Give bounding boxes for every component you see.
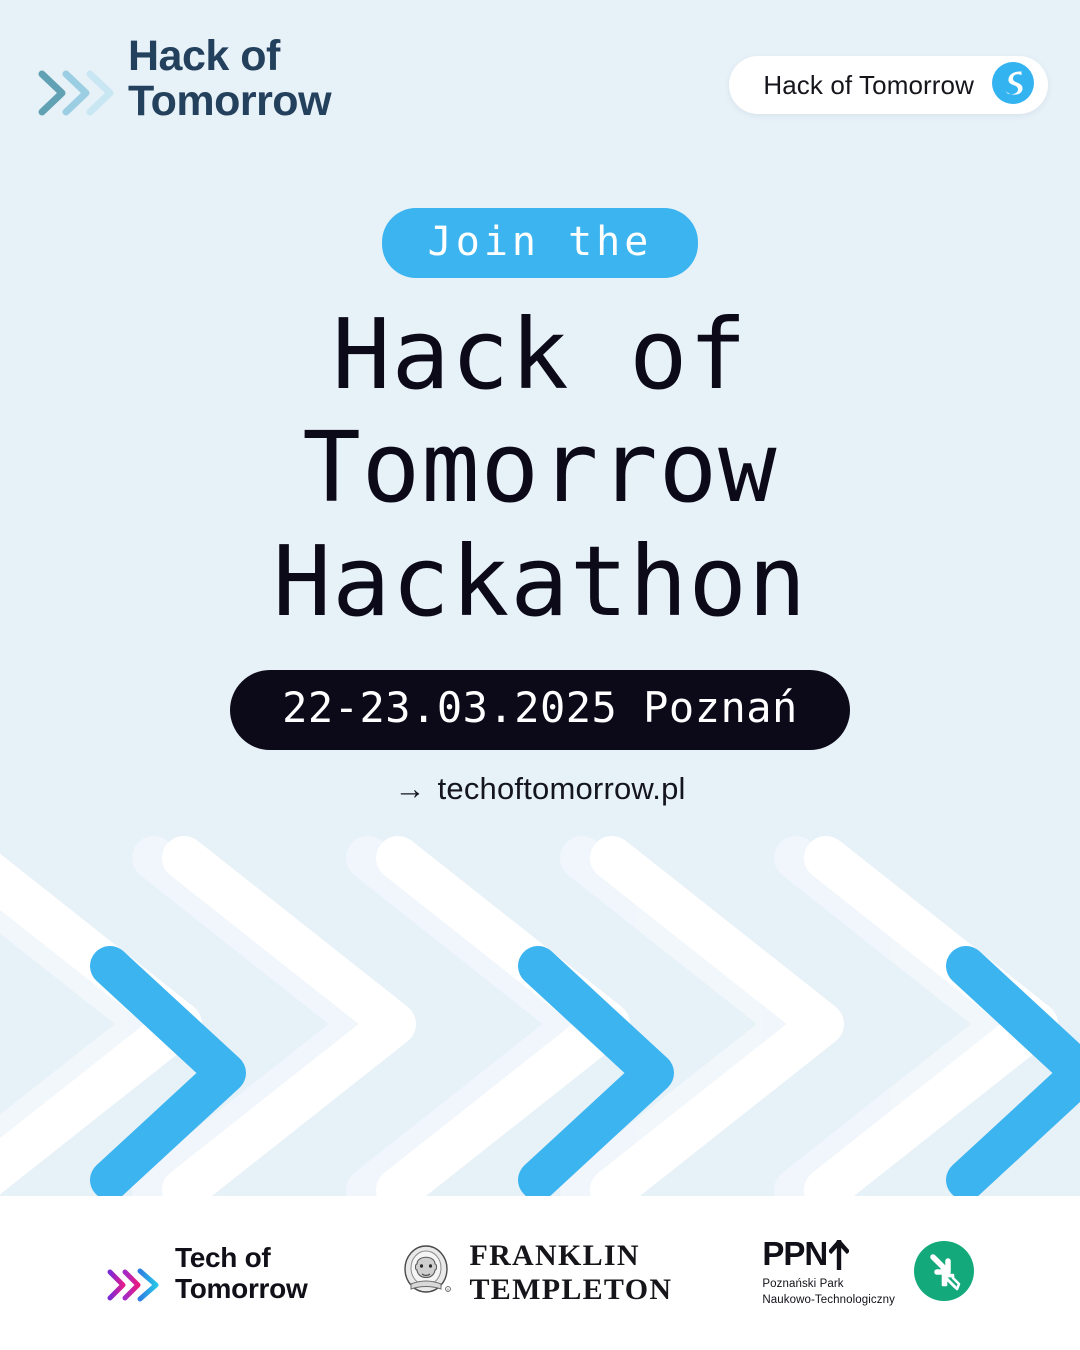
partner-logo-ppnt[interactable]: PPN Poznański Park Naukowo-Technologiczn… — [762, 1237, 975, 1308]
svg-text:R: R — [447, 1287, 449, 1291]
partner-logo-franklin-templeton[interactable]: R FRANKLIN TEMPLETON — [397, 1239, 672, 1307]
arrow-right-icon: → — [394, 771, 425, 806]
ppnt-wordmark: PPN — [762, 1237, 895, 1270]
ppnt-word-letters: PPN — [762, 1237, 827, 1270]
website-line[interactable]: →techoftomorrow.pl — [0, 771, 1080, 807]
franklin-portrait-icon: R — [397, 1242, 455, 1305]
gradient-triple-chevron-icon — [105, 1267, 163, 1308]
join-the-pill: Join the — [382, 208, 699, 278]
ppnt-green-arrows-icon — [913, 1240, 975, 1307]
arrow-up-icon — [829, 1240, 849, 1270]
poster-canvas: Hack of Tomorrow Hack of Tomorrow Join t… — [0, 0, 1080, 1350]
partner-logo-tech-of-tomorrow[interactable]: Tech of Tomorrow — [105, 1239, 307, 1308]
ppnt-subtitle: Poznański Park Naukowo-Technologiczny — [762, 1277, 895, 1308]
chevron-pattern-band — [0, 828, 1080, 1196]
sponsor-footer: Tech of Tomorrow R FRANKLIN TEMPLETON — [0, 1196, 1080, 1350]
date-location-badge: 22-23.03.2025 Poznań — [230, 670, 850, 749]
hero-section: Join the Hack of Tomorrow Hackathon 22-2… — [0, 0, 1080, 807]
page-title: Hack of Tomorrow Hackathon — [0, 298, 1080, 638]
website-url[interactable]: techoftomorrow.pl — [438, 771, 686, 806]
partner-label-franklin-templeton: FRANKLIN TEMPLETON — [469, 1239, 672, 1307]
partner-label-tech-of-tomorrow: Tech of Tomorrow — [175, 1242, 307, 1305]
